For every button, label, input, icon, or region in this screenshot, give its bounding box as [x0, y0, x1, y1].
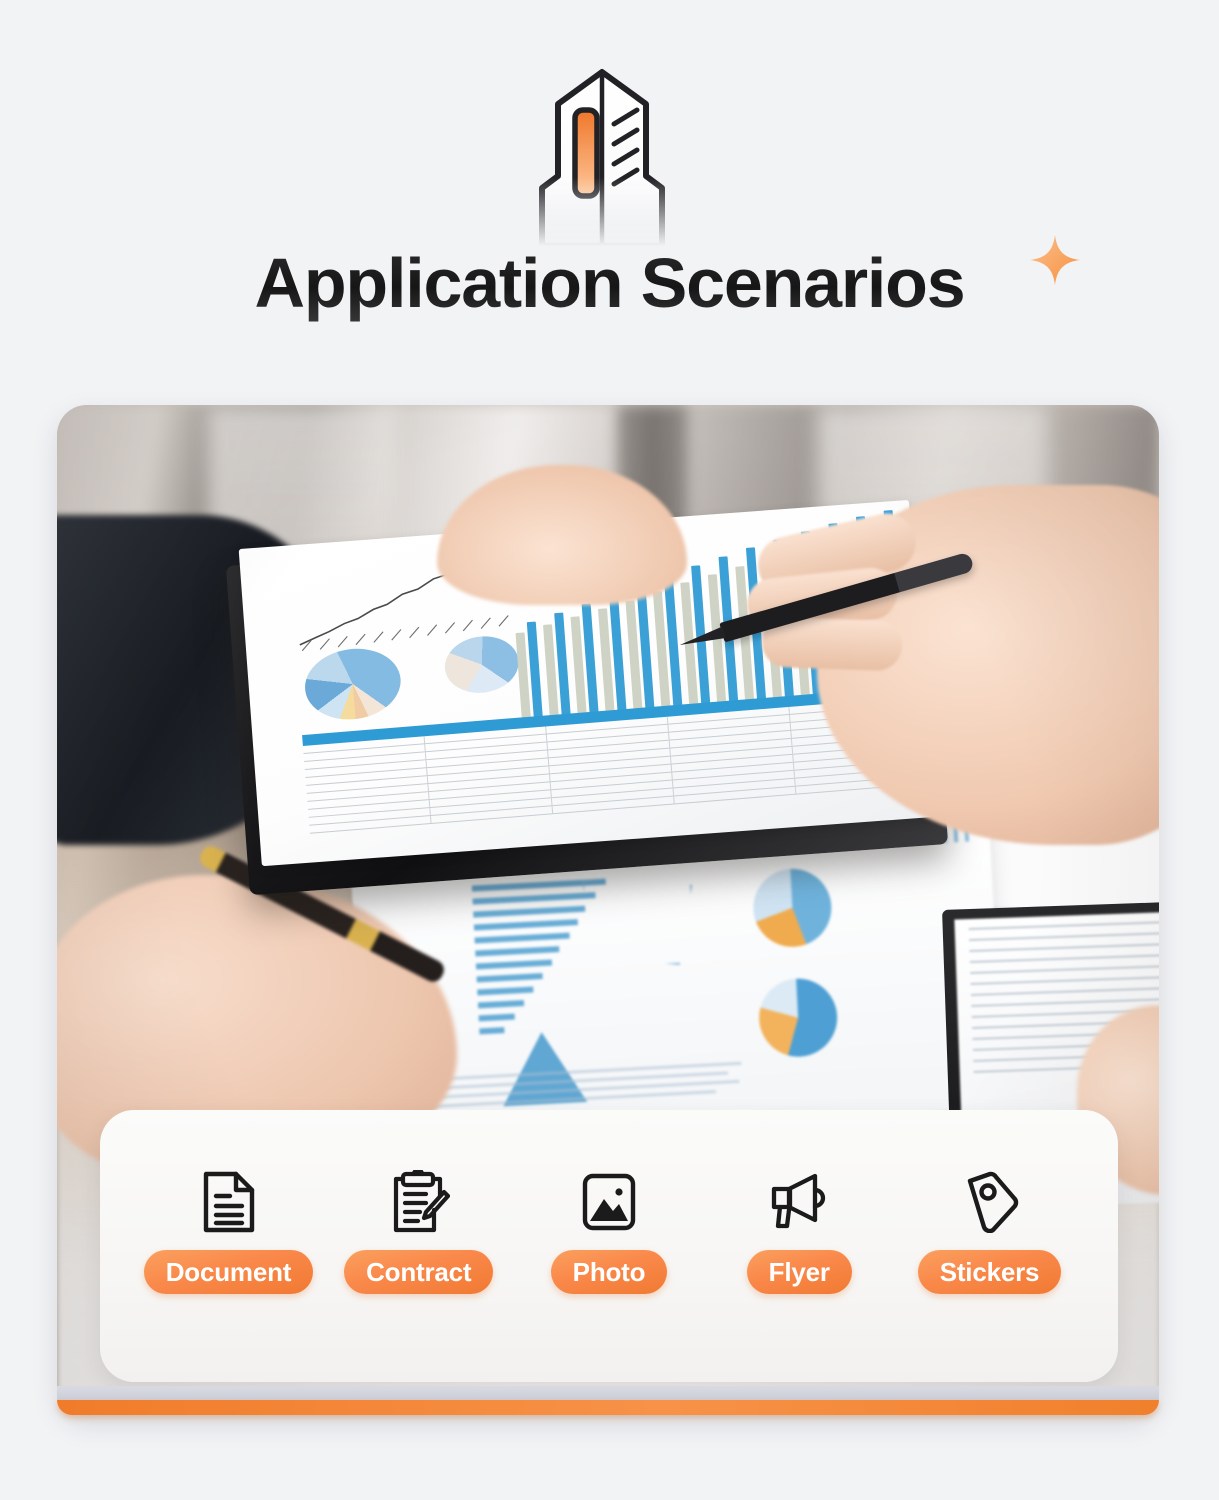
price-tag-icon	[958, 1170, 1022, 1234]
photo-accent-bar	[57, 1400, 1159, 1415]
sparkle-icon	[1027, 232, 1083, 288]
scenario-item-document[interactable]: Document	[136, 1170, 321, 1294]
report-funnel-chart	[582, 874, 697, 970]
page-root: Application Scenarios	[0, 0, 1219, 1500]
scenario-label-photo: Photo	[551, 1250, 668, 1294]
page-header: Application Scenarios	[0, 0, 1219, 380]
scenario-label-document: Document	[144, 1250, 314, 1294]
scenario-label-flyer: Flyer	[747, 1250, 852, 1294]
scenario-label-contract: Contract	[344, 1250, 493, 1294]
clipboard-pie-chart-1	[300, 643, 405, 726]
scenario-item-flyer[interactable]: Flyer	[707, 1170, 892, 1294]
scenario-label-stickers: Stickers	[918, 1250, 1062, 1294]
megaphone-icon	[767, 1170, 831, 1234]
scenarios-card: Document Contract	[100, 1110, 1118, 1382]
document-icon	[197, 1170, 261, 1234]
scenarios-row: Document Contract	[100, 1110, 1118, 1382]
report-pie-chart-2	[757, 977, 839, 1059]
image-icon	[577, 1170, 641, 1234]
scenario-item-stickers[interactable]: Stickers	[897, 1170, 1082, 1294]
scenario-item-contract[interactable]: Contract	[326, 1170, 511, 1294]
building-skyscraper-icon	[494, 66, 709, 246]
report-pie-chart-1	[751, 867, 833, 949]
clipboard-pen-icon	[387, 1170, 451, 1234]
scenario-item-photo[interactable]: Photo	[517, 1170, 702, 1294]
